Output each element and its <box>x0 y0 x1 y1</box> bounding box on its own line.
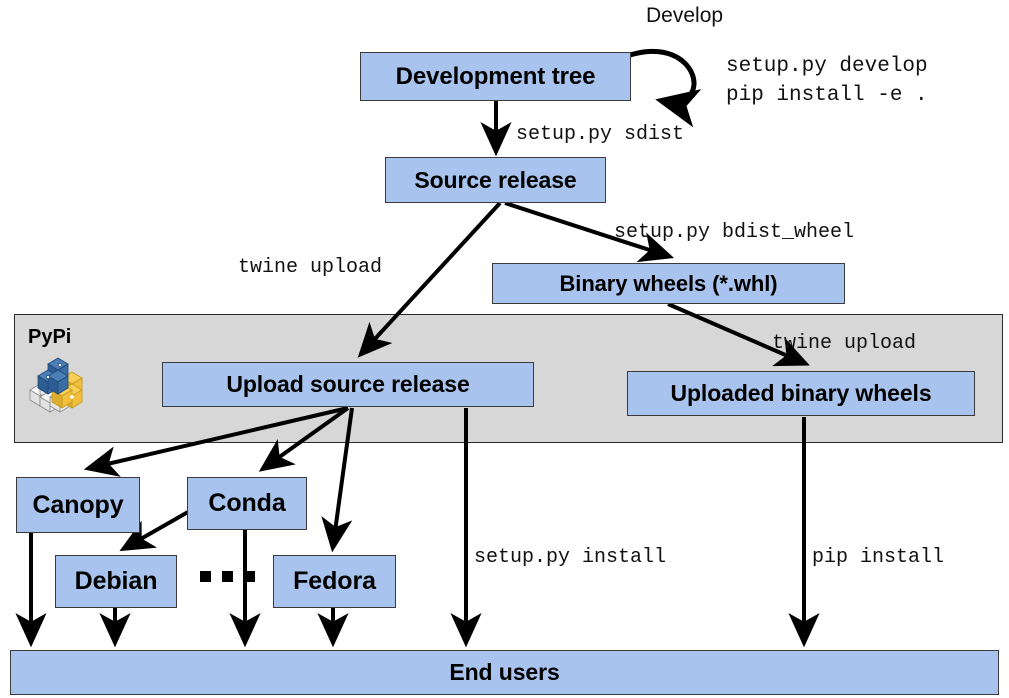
node-debian[interactable]: Debian <box>55 555 177 608</box>
label-setup-py-bdist-wheel: setup.py bdist_wheel <box>614 220 854 246</box>
node-binary-wheels[interactable]: Binary wheels (*.whl) <box>492 263 845 304</box>
diagram-canvas: PyPi <box>0 0 1009 698</box>
label-develop-commands: setup.py developpip install -e . <box>726 52 928 110</box>
label-develop: Develop <box>646 4 723 28</box>
ellipsis-dots <box>200 571 255 582</box>
label-setup-py-sdist: setup.py sdist <box>516 122 684 148</box>
pypi-logo-icon <box>26 356 90 414</box>
node-uploaded-binary-wheels[interactable]: Uploaded binary wheels <box>627 371 975 416</box>
label-setup-py-install: setup.py install <box>474 545 666 571</box>
label-pip-install: pip install <box>812 545 944 571</box>
node-end-users[interactable]: End users <box>10 650 999 695</box>
node-development-tree[interactable]: Development tree <box>360 52 631 101</box>
node-conda[interactable]: Conda <box>187 477 307 530</box>
label-twine-upload-source: twine upload <box>238 255 382 281</box>
node-source-release[interactable]: Source release <box>385 157 606 203</box>
node-canopy[interactable]: Canopy <box>16 477 140 533</box>
node-fedora[interactable]: Fedora <box>273 555 396 608</box>
pypi-group-label: PyPi <box>28 326 71 349</box>
node-upload-source-release[interactable]: Upload source release <box>162 362 534 407</box>
label-twine-upload-wheels: twine upload <box>772 331 916 357</box>
